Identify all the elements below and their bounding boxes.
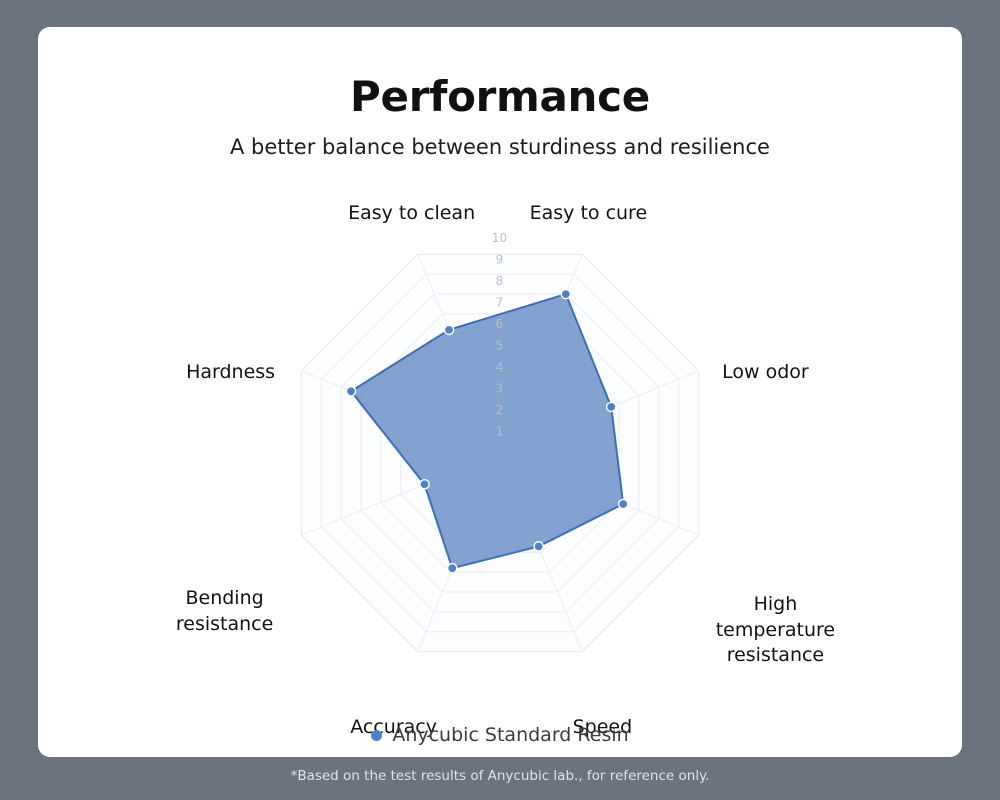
radar-tick-label: 8 (496, 274, 504, 288)
radar-tick-label: 6 (496, 317, 504, 331)
radar-tick-label: 4 (496, 360, 504, 374)
radar-axis-label-bending-resistance: Bending resistance (155, 586, 295, 637)
radar-data-point[interactable] (561, 289, 570, 298)
radar-data-point[interactable] (619, 499, 628, 508)
radar-axis-label-high-temperature-resistance: High temperature resistance (705, 592, 845, 669)
radar-tick-label: 5 (496, 339, 504, 353)
chart-legend[interactable]: Anycubic Standard Resin (38, 724, 962, 746)
chart-footnote: *Based on the test results of Anycubic l… (0, 768, 1000, 784)
screenshot-root: Performance A better balance between stu… (0, 0, 1000, 800)
radar-tick-label: 10 (492, 231, 507, 245)
radar-axis-label-easy-to-clean: Easy to clean (322, 201, 502, 227)
radar-tick-label: 9 (496, 253, 504, 267)
legend-series-label: Anycubic Standard Resin (392, 724, 628, 746)
radar-data-point[interactable] (607, 402, 616, 411)
radar-axis-label-low-odor: Low odor (690, 360, 840, 386)
radar-tick-label: 2 (496, 403, 504, 417)
radar-tick-label: 7 (496, 296, 504, 310)
radar-data-point[interactable] (444, 325, 453, 334)
radar-data-point[interactable] (448, 564, 457, 573)
radar-axis-label-easy-to-cure: Easy to cure (498, 201, 678, 227)
radar-data-point[interactable] (346, 387, 355, 396)
radar-tick-label: 3 (496, 382, 504, 396)
radar-chart: 12345678910 Easy to cureLow odorHigh tem… (38, 27, 962, 757)
radar-axis-label-hardness: Hardness (156, 360, 306, 386)
legend-marker-icon (371, 730, 382, 741)
chart-card: Performance A better balance between stu… (38, 27, 962, 757)
radar-tick-label: 1 (496, 425, 504, 439)
radar-data-point[interactable] (534, 542, 543, 551)
radar-data-point[interactable] (420, 480, 429, 489)
